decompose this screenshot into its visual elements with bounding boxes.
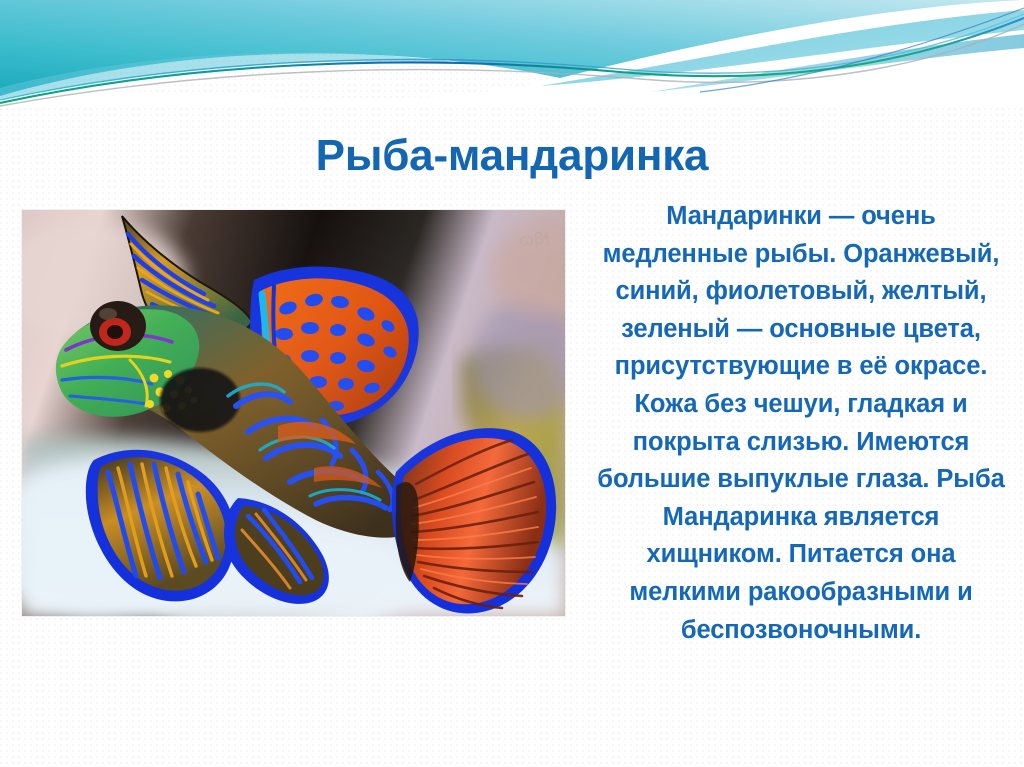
description-paragraph: Мандаринки — очень медленные рыбы. Оранж…: [592, 198, 1010, 649]
description-text: Мандаринки — очень медленные рыбы. Оранж…: [592, 198, 1010, 649]
presentation-slide: Рыба-мандаринка: [0, 0, 1024, 767]
decorative-wave-banner: [0, 0, 1024, 108]
mandarinfish-photo: ꞷꞵꞎ: [22, 210, 565, 616]
slide-title: Рыба-мандаринка: [0, 133, 1024, 179]
